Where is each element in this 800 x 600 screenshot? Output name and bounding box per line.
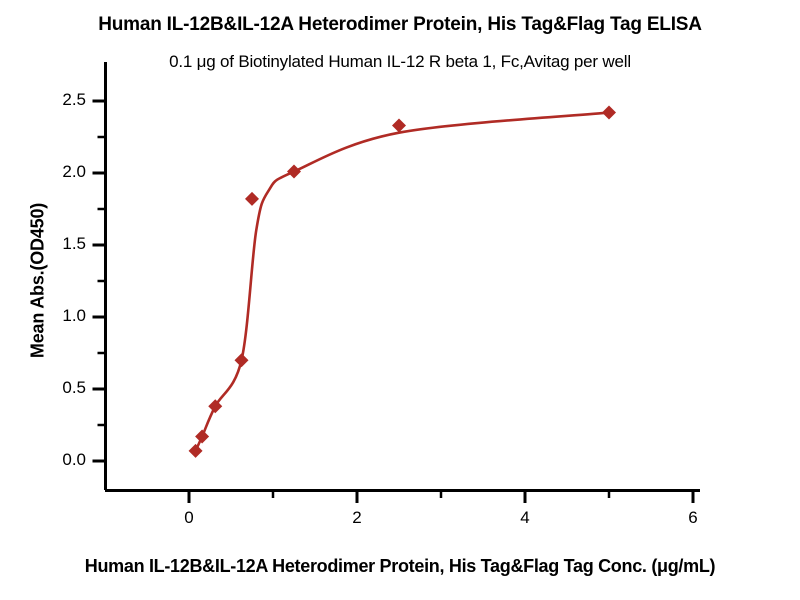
y-axis-tick-label: 0.5 (32, 378, 86, 398)
x-axis-tick-label: 2 (337, 508, 377, 528)
data-point-marker (235, 353, 249, 367)
y-axis-tick-label: 1.5 (32, 234, 86, 254)
y-axis-tick-label: 2.0 (32, 162, 86, 182)
elisa-chart: Human IL-12B&IL-12A Heterodimer Protein,… (0, 0, 800, 600)
data-point-marker (602, 106, 616, 120)
data-point-marker (287, 165, 301, 179)
data-point-marker (245, 192, 259, 206)
x-axis-tick-label: 0 (169, 508, 209, 528)
data-point-marker (208, 399, 222, 413)
data-point-marker (195, 430, 209, 444)
data-point-marker (392, 118, 406, 132)
y-axis-tick-label: 0.0 (32, 450, 86, 470)
x-axis-tick-label: 4 (505, 508, 545, 528)
x-axis-tick-label: 6 (673, 508, 713, 528)
fit-curve (196, 113, 609, 451)
y-axis-tick-label: 1.0 (32, 306, 86, 326)
y-axis-tick-label: 2.5 (32, 90, 86, 110)
data-point-marker (189, 444, 203, 458)
